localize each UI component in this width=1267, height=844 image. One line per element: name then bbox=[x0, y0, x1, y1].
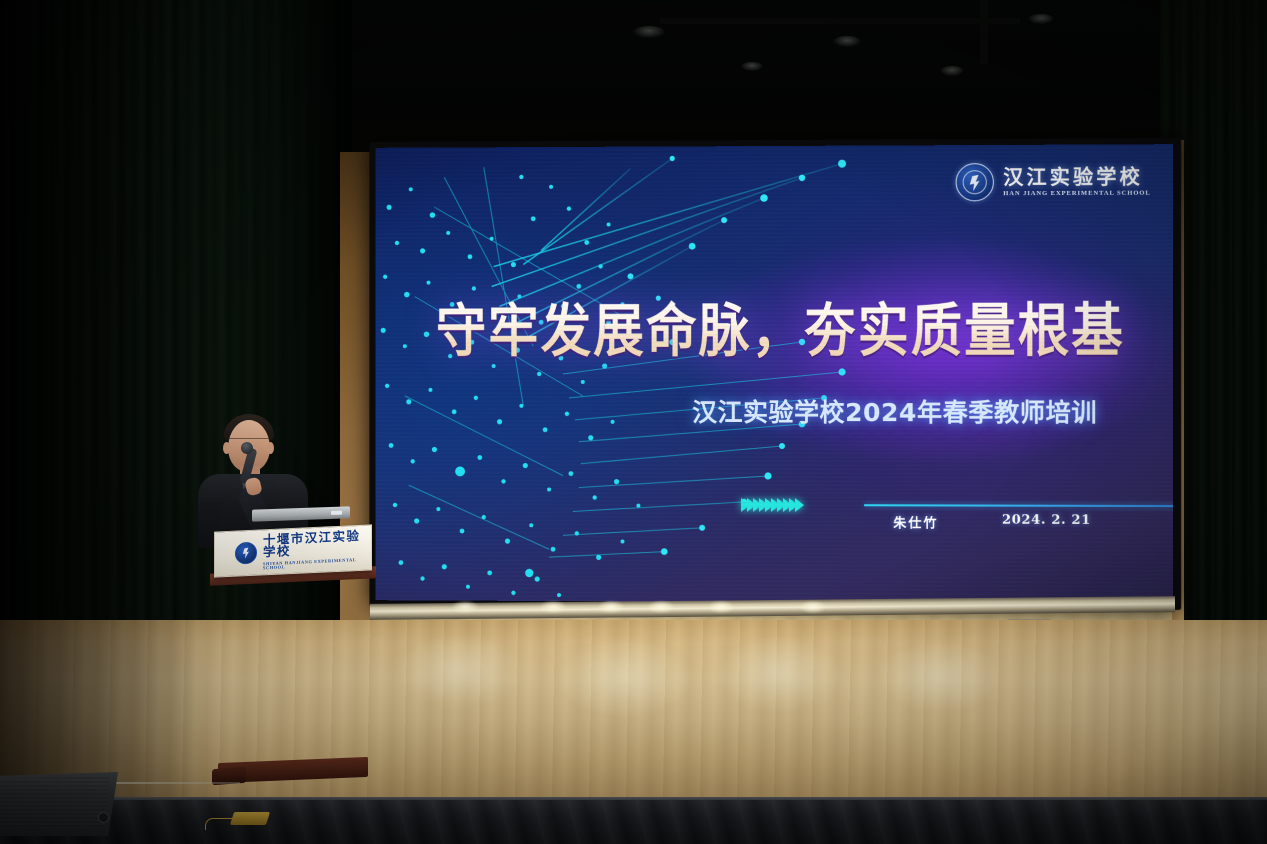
trim-reflection bbox=[540, 601, 566, 613]
ceiling-truss bbox=[660, 18, 1020, 24]
trim-reflection bbox=[598, 601, 624, 613]
laptop-trackpad bbox=[331, 511, 342, 515]
lectern-sign-en: SHIYAN HANJIANG EXPERIMENTAL SCHOOL bbox=[263, 557, 371, 571]
lectern-sign-cn: 十堰市汉江实验学校 bbox=[263, 529, 371, 559]
trim-reflection bbox=[648, 601, 674, 613]
auditorium-scene: 汉江实验学校 HAN JIANG EXPERIMENTAL SCHOOL 守牢发… bbox=[0, 0, 1267, 844]
ceiling-truss bbox=[980, 0, 988, 64]
trim-reflection bbox=[452, 601, 478, 613]
ceiling-light-icon bbox=[741, 62, 763, 71]
lectern: 十堰市汉江实验学校 SHIYAN HANJIANG EXPERIMENTAL S… bbox=[200, 528, 372, 788]
lectern-sign: 十堰市汉江实验学校 SHIYAN HANJIANG EXPERIMENTAL S… bbox=[214, 524, 372, 577]
trim-reflection bbox=[708, 601, 734, 613]
ceiling-light-icon bbox=[833, 36, 861, 47]
ceiling-light-icon bbox=[1028, 14, 1054, 24]
presentation-date: 2024. 2. 21 bbox=[1002, 513, 1091, 528]
floor-reflection bbox=[560, 640, 690, 716]
led-screen[interactable]: 汉江实验学校 HAN JIANG EXPERIMENTAL SCHOOL 守牢发… bbox=[375, 144, 1173, 604]
speaker-grill bbox=[0, 776, 110, 828]
slide-headline: 守牢发展命脉，夯实质量根基 bbox=[425, 284, 1137, 368]
slide-logo-en: HAN JIANG EXPERIMENTAL SCHOOL bbox=[1003, 190, 1150, 197]
stage-edge bbox=[0, 800, 1267, 844]
chevron-arrow-row bbox=[744, 498, 804, 512]
ceiling-light-icon bbox=[633, 26, 665, 38]
floor-reflection bbox=[880, 642, 1000, 712]
slide-network-graphic bbox=[375, 144, 1173, 604]
floor-reflection bbox=[720, 638, 840, 710]
school-crest-icon bbox=[235, 542, 257, 565]
lectern-body bbox=[229, 578, 359, 768]
slide-school-logo: 汉江实验学校 HAN JIANG EXPERIMENTAL SCHOOL bbox=[956, 162, 1151, 201]
school-crest-icon bbox=[956, 163, 994, 201]
speaker-port-icon bbox=[98, 812, 109, 823]
slide-subheadline: 汉江实验学校2024年春季教师培训 bbox=[692, 393, 1097, 429]
ceiling-light-icon bbox=[940, 66, 964, 76]
slide-logo-cn: 汉江实验学校 bbox=[1003, 166, 1150, 187]
floor-reflection bbox=[400, 636, 520, 706]
presenter-name: 朱仕竹 bbox=[893, 512, 938, 531]
brass-fixture bbox=[230, 812, 270, 825]
trim-reflection bbox=[800, 601, 826, 613]
chevron-right-icon bbox=[795, 498, 804, 512]
